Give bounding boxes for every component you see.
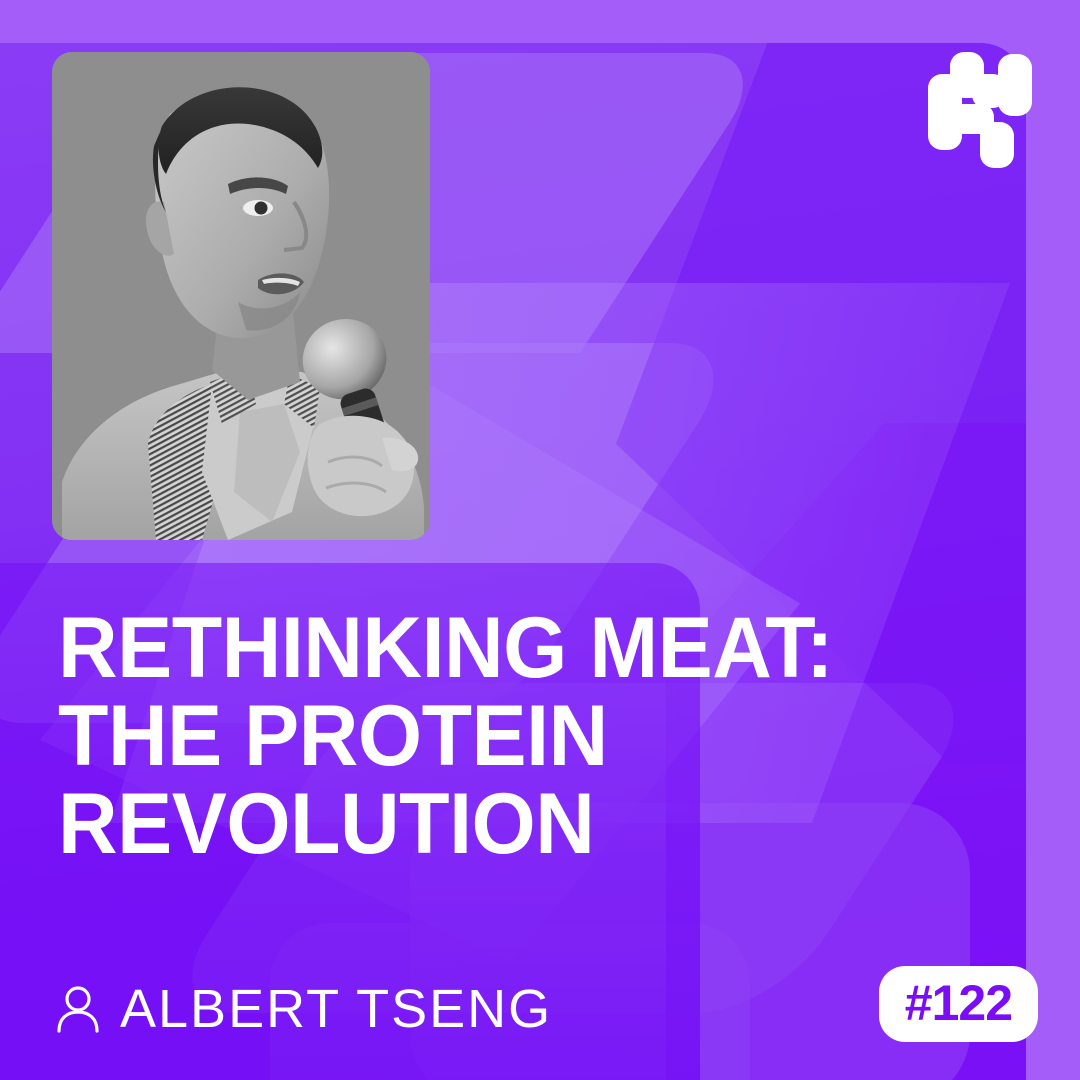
speaker-portrait [52,52,430,540]
episode-cover-canvas: RETHINKING MEAT: THE PROTEIN REVOLUTION … [0,0,1080,1080]
title-line-1: RETHINKING MEAT: [58,604,999,692]
page-title: RETHINKING MEAT: THE PROTEIN REVOLUTION [58,604,999,868]
person-icon [56,985,100,1033]
brand-logo-mark [928,52,1032,170]
speaker-name: ALBERT TSENG [120,978,552,1040]
title-line-2: THE PROTEIN REVOLUTION [58,692,999,868]
episode-badge: #122 [879,966,1038,1042]
speaker-row: ALBERT TSENG [56,978,552,1040]
episode-number: #122 [905,978,1012,1028]
